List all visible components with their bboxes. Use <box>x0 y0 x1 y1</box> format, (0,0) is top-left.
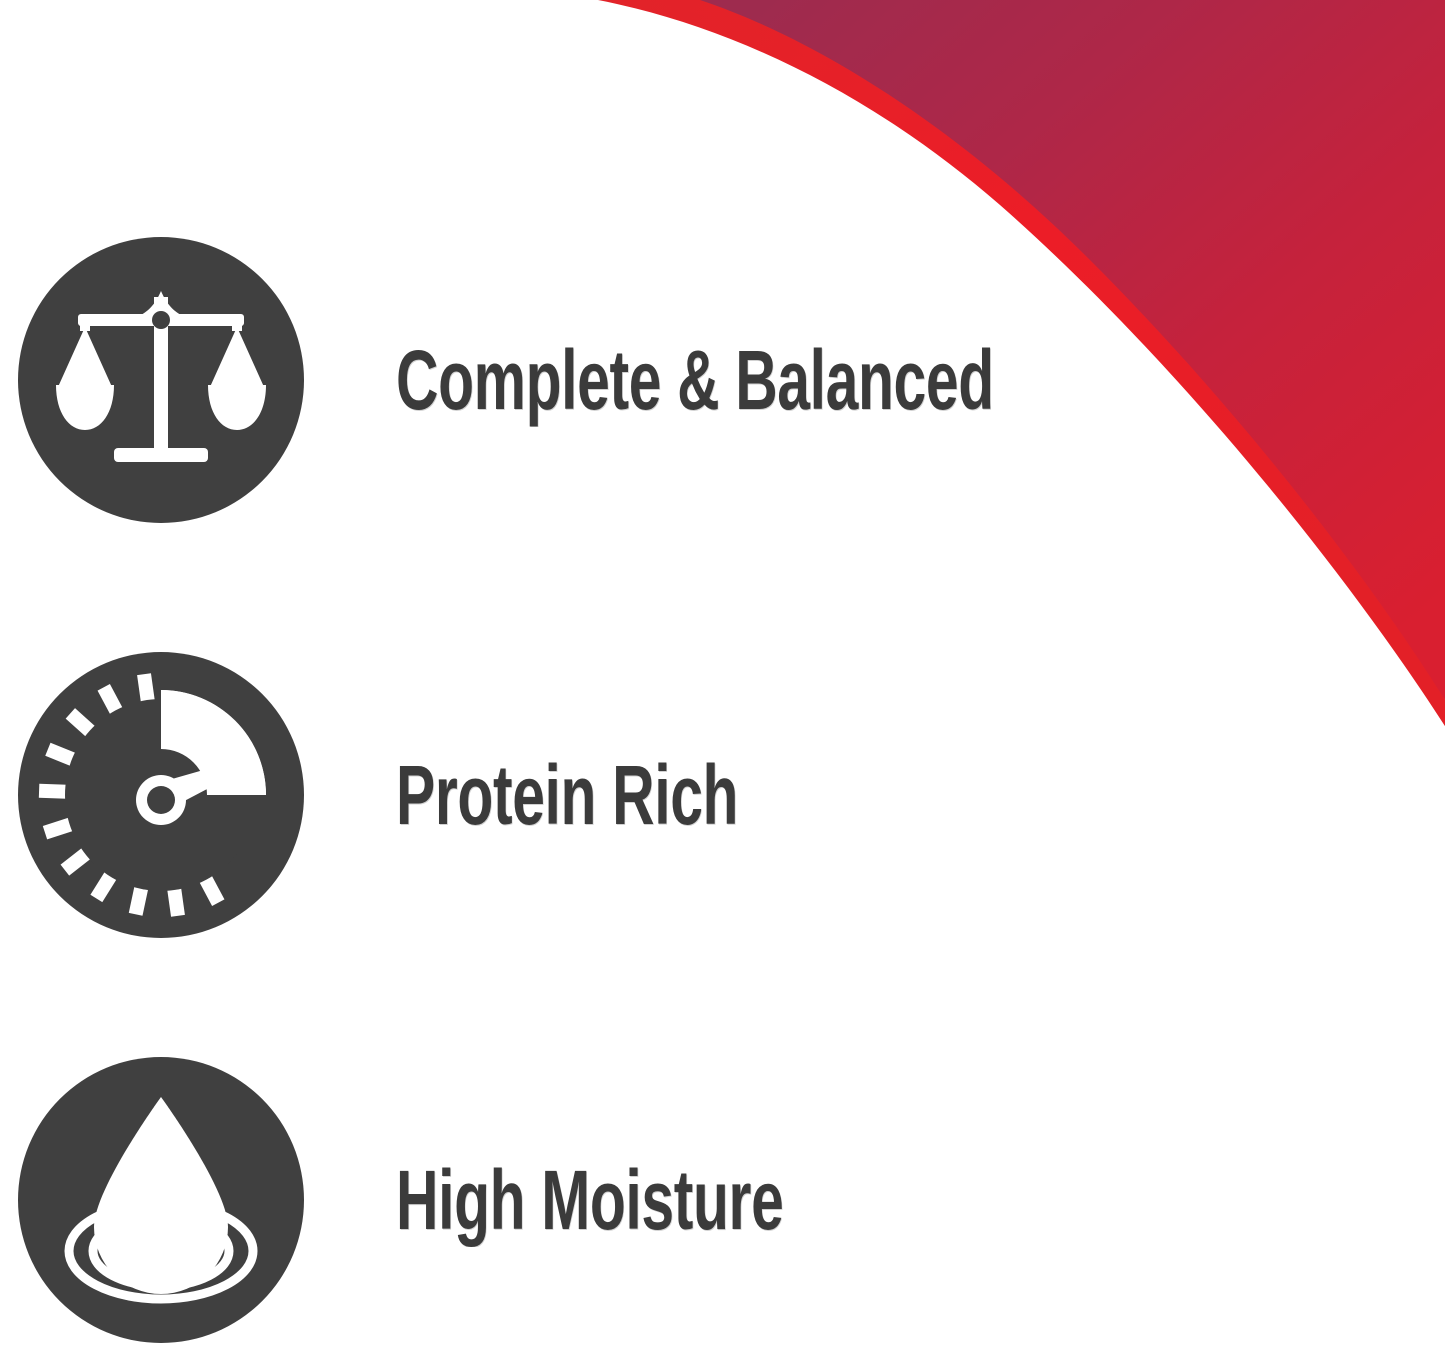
feature-label: High Moisture <box>396 1156 889 1244</box>
balance-scale-icon <box>16 235 306 525</box>
scale-pivot-dot <box>152 311 170 329</box>
feature-callout-panel: Complete & Balanced <box>0 0 1445 1359</box>
feature-row: High Moisture <box>0 1050 1100 1350</box>
feature-label: Complete & Balanced <box>396 336 994 424</box>
gauge-hub-inner <box>147 786 175 814</box>
gauge-meter-icon <box>16 650 306 940</box>
feature-label: Protein Rich <box>396 751 889 839</box>
water-droplet-icon <box>16 1055 306 1345</box>
feature-row: Protein Rich <box>0 645 1100 945</box>
feature-row: Complete & Balanced <box>0 230 1100 530</box>
